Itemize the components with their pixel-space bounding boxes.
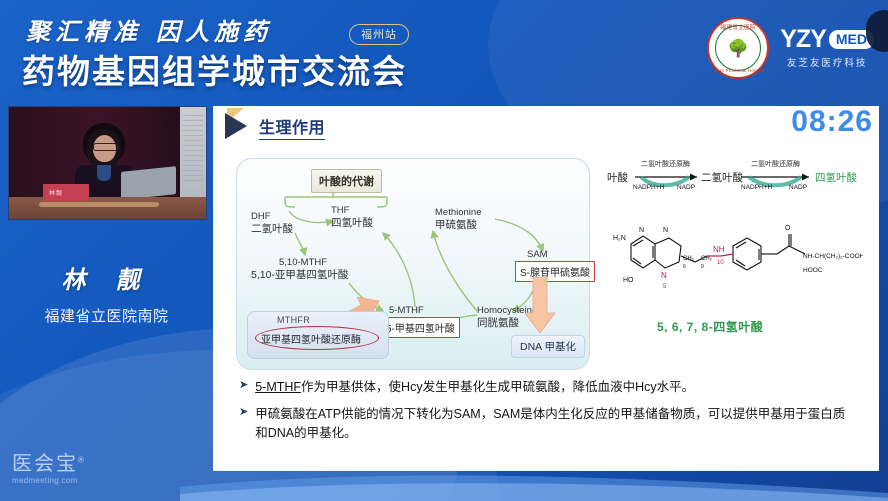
dna-methylation-box: DNA 甲基化 — [511, 335, 585, 358]
svg-text:O: O — [785, 225, 791, 232]
compound-name: 5, 6, 7, 8-四氢叶酸 — [657, 318, 763, 335]
tagline-left: 聚汇精准 — [26, 20, 142, 46]
node-5-mthf-box: 5-甲基四氢叶酸 — [381, 317, 460, 338]
glasses-icon — [93, 143, 118, 151]
event-tagline: 聚汇精准因人施药 — [26, 12, 272, 47]
watermark-url: medmeeting.com — [12, 476, 86, 485]
speaker-video-feed[interactable]: 林靓 — [8, 106, 207, 220]
bullet-marker-icon: ➤ — [239, 378, 248, 394]
page-title: 药物基因组学城市交流会 — [22, 45, 407, 93]
watermark-brand-text: 医会宝 — [12, 453, 78, 475]
sponsor-mark: YZY — [780, 27, 826, 52]
seal-inner-ring: 🌳 — [715, 25, 761, 71]
svg-text:HOOC: HOOC — [803, 267, 823, 274]
slide-bullet-list: ➤ 5-MTHF作为甲基供体，使Hcy发生甲基化生成甲硫氨酸，降低血液中Hcy水… — [239, 378, 855, 450]
svg-text:6: 6 — [683, 264, 686, 270]
bullet-item: ➤ 甲硫氨酸在ATP供能的情况下转化为SAM，SAM是体内生化反应的甲基储备物质… — [239, 405, 855, 443]
node-5-mthf-en: 5-MTHF — [389, 305, 424, 317]
reaction-substrate: 叶酸 — [607, 170, 628, 185]
tetrahydrofolate-structure: H₂N N N HO N 5 CH₂ 6 CH₂ 9 NH 10 O NH-CH… — [613, 216, 863, 316]
root-node-box: 叶酸的代谢 — [311, 169, 382, 193]
node-methionine-cn: 甲硫氨酸 — [435, 219, 481, 232]
reaction-cofactor-out-1: NADP — [677, 184, 695, 191]
slide-title: 生理作用 — [259, 114, 325, 140]
seal-bottom-text: Fujian Provincial Hospital — [709, 68, 767, 73]
watermark-brand: 医会宝® — [12, 454, 86, 474]
bullet-underlined-term: 5-MTHF — [255, 380, 301, 394]
reaction-cofactor-in-2: NADPH+H — [741, 184, 772, 191]
node-sam-en: SAM — [527, 249, 548, 261]
svg-text:CH₂: CH₂ — [701, 256, 713, 262]
node-510-mthf-en: 5,10-MTHF — [279, 257, 348, 269]
podium-nameplate-text: 林靓 — [49, 188, 63, 197]
speaker-name: 林 靓 — [0, 260, 213, 295]
sam-to-dna-arrow — [523, 277, 563, 337]
node-5-mthf-en-label: 5-MTHF — [389, 305, 424, 317]
speaker-collar — [97, 165, 111, 181]
svg-text:N: N — [639, 227, 644, 234]
footer-decorative-wave — [180, 467, 888, 501]
bullet-rest-text: 甲硫氨酸在ATP供能的情况下转化为SAM，SAM是体内生化反应的甲基储备物质，可… — [255, 407, 845, 440]
folate-metabolism-diagram: 叶酸的代谢 DHF 二氢叶酸 THF 四氢叶酸 5,10-MTHF 5,10-亚… — [236, 158, 590, 370]
speaker-organization: 福建省立医院南院 — [0, 305, 213, 326]
node-thf-cn: 四氢叶酸 — [331, 217, 373, 230]
reaction-cofactor-out-2: NADP — [789, 184, 807, 191]
reaction-enzyme-1: 二氢叶酸还原酶 — [641, 159, 690, 169]
node-methionine-en: Methionine — [435, 207, 481, 219]
session-timer: 08:26 — [791, 106, 873, 138]
tagline-right: 因人施药 — [156, 20, 272, 46]
sponsor-chinese-name: 友芝友医疗科技 — [787, 55, 868, 69]
node-methionine: Methionine 甲硫氨酸 — [435, 207, 481, 232]
node-thf-en: THF — [331, 205, 373, 217]
node-dhf-en: DHF — [251, 211, 293, 223]
bullet-rest-text: 作为甲基供体，使Hcy发生甲基化生成甲硫氨酸，降低血液中Hcy水平。 — [301, 380, 694, 394]
bullet-item: ➤ 5-MTHF作为甲基供体，使Hcy发生甲基化生成甲硫氨酸，降低血液中Hcy水… — [239, 378, 855, 397]
reaction-product: 四氢叶酸 — [815, 170, 857, 185]
node-thf: THF 四氢叶酸 — [331, 205, 373, 230]
hospital-seal-logo: 福建省立医院 🌳 Fujian Provincial Hospital — [707, 17, 769, 79]
sponsor-logo: YZY MED 友芝友医疗科技 — [780, 27, 874, 69]
laptop-icon — [121, 166, 176, 200]
podium-desk — [9, 197, 206, 219]
svg-text:N: N — [661, 271, 667, 280]
svg-text:HO: HO — [623, 277, 634, 284]
mthfr-chinese: 亚甲基四氢叶酸还原酶 — [261, 331, 361, 346]
bullet-text: 甲硫氨酸在ATP供能的情况下转化为SAM，SAM是体内生化反应的甲基储备物质，可… — [255, 405, 855, 443]
reaction-enzyme-2: 二氢叶酸还原酶 — [751, 159, 800, 169]
node-510-mthf: 5,10-MTHF 5,10-亚甲基四氢叶酸 — [251, 257, 348, 282]
watermark: 医会宝® medmeeting.com — [12, 454, 86, 485]
play-triangle-icon — [225, 113, 247, 139]
footer-wave-svg — [180, 467, 888, 501]
folate-chemistry-panel: 叶酸 二氢叶酸还原酶 NADPH+H NADP 二氢叶酸 二氢叶酸还原酶 NAD… — [605, 158, 867, 368]
app-stage: 聚汇精准因人施药 福州站 药物基因组学城市交流会 福建省立医院 🌳 Fujian… — [0, 0, 888, 501]
reaction-cofactor-in-1: NADPH+H — [633, 184, 664, 191]
svg-text:N: N — [663, 227, 668, 234]
bullet-marker-icon: ➤ — [239, 405, 248, 421]
node-sam-en-label: SAM — [527, 249, 548, 261]
svg-text:9: 9 — [701, 264, 704, 270]
podium-highlight — [39, 202, 159, 207]
sponsor-logo-row: YZY MED — [780, 27, 874, 52]
svg-text:H₂N: H₂N — [613, 235, 626, 242]
logo-group: 福建省立医院 🌳 Fujian Provincial Hospital YZY … — [707, 17, 874, 79]
svg-text:CH₂: CH₂ — [683, 256, 695, 262]
node-510-mthf-cn: 5,10-亚甲基四氢叶酸 — [251, 269, 348, 282]
node-dhf: DHF 二氢叶酸 — [251, 211, 293, 236]
bullet-text: 5-MTHF作为甲基供体，使Hcy发生甲基化生成甲硫氨酸，降低血液中Hcy水平。 — [255, 378, 694, 397]
svg-text:5: 5 — [663, 284, 667, 290]
svg-text:10: 10 — [717, 260, 724, 266]
slide-header: 生理作用 08:26 — [213, 106, 879, 142]
mthfr-abbr: MTHFR — [277, 315, 310, 325]
city-badge: 福州站 — [349, 24, 409, 45]
svg-text:NH-CH(CH₂)₂-COOH: NH-CH(CH₂)₂-COOH — [803, 253, 863, 260]
presentation-slide[interactable]: 生理作用 08:26 — [213, 106, 879, 471]
seal-top-text: 福建省立医院 — [709, 23, 767, 31]
registered-mark-icon: ® — [78, 455, 86, 464]
page-header: 聚汇精准因人施药 福州站 药物基因组学城市交流会 福建省立医院 🌳 Fujian… — [0, 0, 888, 95]
reaction-intermediate: 二氢叶酸 — [701, 170, 743, 185]
tree-icon: 🌳 — [728, 40, 749, 57]
node-dhf-cn: 二氢叶酸 — [251, 223, 293, 236]
video-projection-content — [183, 115, 203, 185]
svg-text:NH: NH — [713, 245, 725, 254]
